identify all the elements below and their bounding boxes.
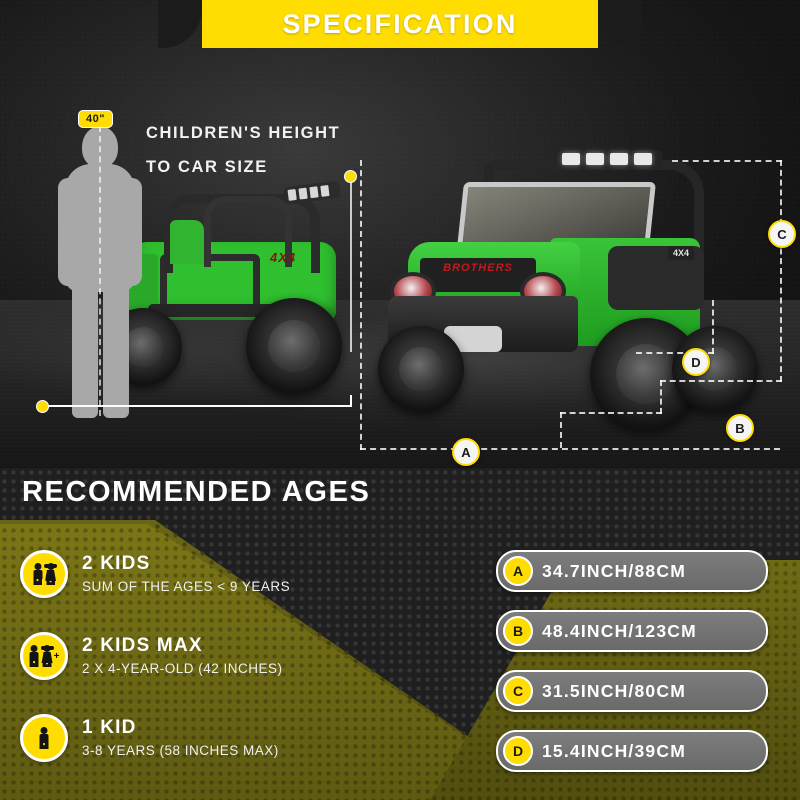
age-subtitle-1: SUM OF THE AGES < 9 YEARS <box>82 577 290 596</box>
roof-light-bar <box>558 150 662 168</box>
side-pointer-dot <box>344 170 357 183</box>
pill-badge-c: C <box>503 676 533 706</box>
dimension-pill-b: B 48.4INCH/123CM <box>496 610 768 652</box>
marker-c: C <box>768 220 796 248</box>
dimension-line-b-bottom <box>560 412 562 448</box>
headline-line-1: CHILDREN'S HEIGHT <box>146 116 340 150</box>
height-baseline <box>40 405 350 407</box>
pill-value-d: 15.4INCH/39CM <box>542 741 686 762</box>
section-title: RECOMMENDED AGES <box>22 476 370 509</box>
banner-notch-right <box>598 0 642 48</box>
banner-notch-left <box>158 0 202 48</box>
pill-badge-a: A <box>503 556 533 586</box>
side-rear-tire <box>246 298 342 394</box>
marker-b: B <box>726 414 754 442</box>
dimension-line-b-vert <box>660 380 662 414</box>
pill-value-b: 48.4INCH/123CM <box>542 621 697 642</box>
age-row-2: + 2 KIDS MAX 2 X 4-YEAR-OLD (42 INCHES) <box>20 632 283 680</box>
brand-badge: BROTHERS <box>424 262 532 274</box>
title-banner: SPECIFICATION <box>0 0 800 58</box>
two-kids-icon <box>20 550 68 598</box>
height-badge: 40" <box>78 110 113 128</box>
dimension-line-b-top <box>560 412 662 414</box>
main-vehicle: 4X4 BROTHERS <box>372 150 732 440</box>
side-light-bar <box>283 181 341 205</box>
dimension-pill-a: A 34.7INCH/88CM <box>496 550 768 592</box>
marker-a: A <box>452 438 480 466</box>
dimension-line-c-vert <box>780 160 782 382</box>
hero-headline: CHILDREN'S HEIGHT TO CAR SIZE <box>146 116 340 184</box>
age-title-3: 1 KID <box>82 717 279 739</box>
age-subtitle-3: 3-8 YEARS (58 INCHES MAX) <box>82 741 279 760</box>
age-subtitle-2: 2 X 4-YEAR-OLD (42 INCHES) <box>82 659 283 678</box>
dimension-line-a <box>360 448 780 450</box>
hero-section: 4X4 4X4 BROTHERS <box>0 0 800 470</box>
dimension-line-c-top <box>672 160 782 162</box>
age-row-1: 2 KIDS SUM OF THE AGES < 9 YEARS <box>20 550 290 598</box>
pill-badge-d: D <box>503 736 533 766</box>
pill-value-a: 34.7INCH/88CM <box>542 561 686 582</box>
two-kids-max-icon: + <box>20 632 68 680</box>
front-tire <box>378 326 464 412</box>
age-row-3: 1 KID 3-8 YEARS (58 INCHES MAX) <box>20 714 279 762</box>
vehicle-4x4-badge: 4X4 <box>668 246 694 260</box>
dimension-line-d-vert <box>712 300 714 354</box>
dimension-line-a-vert <box>360 160 362 450</box>
height-dashed-line <box>99 126 101 416</box>
pill-badge-b: B <box>503 616 533 646</box>
side-vehicle-decal: 4X4 <box>270 250 296 265</box>
headline-line-2: TO CAR SIZE <box>146 150 340 184</box>
specification-infographic: 4X4 4X4 BROTHERS <box>0 0 800 800</box>
page-title: SPECIFICATION <box>202 0 598 48</box>
recommended-ages-section: RECOMMENDED AGES 2 KIDS SUM OF THE AGES … <box>0 468 800 800</box>
one-kid-icon <box>20 714 68 762</box>
baseline-dot <box>36 400 49 413</box>
dimension-line-c-bottom <box>660 380 782 382</box>
age-title-2: 2 KIDS MAX <box>82 635 283 657</box>
side-pointer-pole <box>350 176 352 352</box>
age-title-1: 2 KIDS <box>82 553 290 575</box>
dimension-pill-d: D 15.4INCH/39CM <box>496 730 768 772</box>
side-seat <box>170 220 204 264</box>
marker-d: D <box>682 348 710 376</box>
pill-value-c: 31.5INCH/80CM <box>542 681 686 702</box>
side-view-vehicle: 4X4 <box>118 180 366 410</box>
dimension-pill-c: C 31.5INCH/80CM <box>496 670 768 712</box>
